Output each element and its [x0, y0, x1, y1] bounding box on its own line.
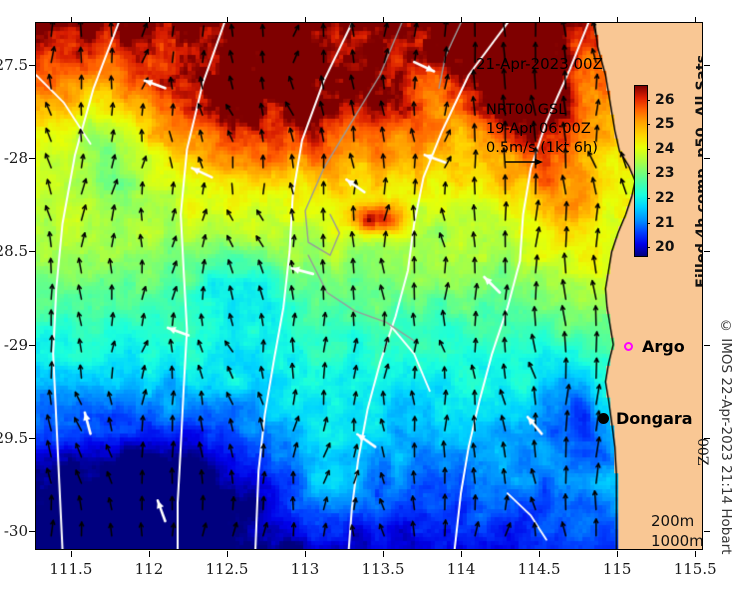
- y-tick: [29, 438, 35, 439]
- map-plot-area[interactable]: 21-Apr-2023 00Z NRT00 GSL 19-Apr 06:00Z …: [35, 22, 703, 550]
- y-tick: [29, 158, 35, 159]
- bathymetry-label-200m: 200m: [651, 511, 703, 531]
- colorbar: 20212223242526 Filled 4h comp, p50, All …: [634, 85, 703, 275]
- colorbar-tick: [648, 100, 650, 101]
- timestamp-label: 21-Apr-2023 00Z: [476, 55, 603, 73]
- x-tick-top: [617, 17, 618, 22]
- y-tick-label: -30: [4, 522, 28, 540]
- x-tick-label: 115: [603, 560, 632, 578]
- y-tick: [29, 531, 35, 532]
- x-tick-top: [695, 17, 696, 22]
- x-tick-top: [539, 17, 540, 22]
- colorbar-tick: [648, 173, 650, 174]
- colorbar-tick: [648, 198, 650, 199]
- y-tick-right: [704, 251, 710, 252]
- credit-text: © IMOS 22-Apr-2023 21:14 Hobart: [718, 318, 734, 554]
- dongara-marker-icon: [598, 413, 609, 424]
- x-tick: [71, 551, 72, 557]
- y-tick-right: [704, 345, 710, 346]
- colorbar-tick-label: 22: [655, 190, 674, 206]
- x-tick: [695, 551, 696, 557]
- y-tick: [29, 251, 35, 252]
- source-info-block: NRT00 GSL 19-Apr 06:00Z 0.5m/s (1kt 6h): [486, 101, 598, 158]
- x-tick-top: [383, 17, 384, 22]
- x-tick-top: [71, 17, 72, 22]
- x-tick-top: [149, 17, 150, 22]
- x-tick-label: 111.5: [49, 560, 92, 578]
- colorbar-title: Filled 4h comp, p50, All Sats: [692, 85, 703, 257]
- colorbar-tick-label: 25: [655, 116, 674, 132]
- colorbar-tick-label: 21: [655, 215, 674, 231]
- x-tick-label: 114: [447, 560, 476, 578]
- source-time-label: 19-Apr 06:00Z: [486, 120, 598, 139]
- y-tick-right: [704, 158, 710, 159]
- x-tick-label: 112.5: [205, 560, 248, 578]
- x-tick-label: 113.5: [362, 560, 405, 578]
- colorbar-tick-label: 20: [655, 239, 674, 255]
- colorbar-tick: [648, 149, 650, 150]
- colorbar-tick: [648, 124, 650, 125]
- y-tick-label: -29: [4, 336, 28, 354]
- right-axis-label: 00Z: [694, 438, 710, 466]
- source-product-label: NRT00 GSL: [486, 101, 598, 120]
- x-tick-label: 112: [135, 560, 164, 578]
- colorbar-tick-label: 26: [655, 92, 674, 108]
- y-tick-label: -28.5: [0, 242, 28, 260]
- legend-argo: Argo: [624, 337, 685, 356]
- bathymetry-legend: 200m 1000m: [651, 511, 703, 550]
- y-tick: [29, 65, 35, 66]
- y-tick-right: [704, 65, 710, 66]
- x-tick: [539, 551, 540, 557]
- x-tick-top: [461, 17, 462, 22]
- figure-root: 21-Apr-2023 00Z NRT00 GSL 19-Apr 06:00Z …: [0, 0, 740, 592]
- x-tick-label: 115.5: [674, 560, 717, 578]
- colorbar-tick-label: 24: [655, 141, 674, 157]
- colorbar-tick: [648, 247, 650, 248]
- x-tick: [227, 551, 228, 557]
- argo-marker-icon: [624, 342, 633, 351]
- x-tick: [149, 551, 150, 557]
- x-tick: [461, 551, 462, 557]
- colorbar-tick-label: 23: [655, 165, 674, 181]
- colorbar-tick: [648, 223, 650, 224]
- y-tick-label: -28: [4, 149, 28, 167]
- argo-label: Argo: [642, 337, 685, 356]
- x-tick: [305, 551, 306, 557]
- y-tick-right: [704, 531, 710, 532]
- map-overlays-contours-vectors: [36, 23, 702, 549]
- bathymetry-label-1000m: 1000m: [651, 531, 703, 550]
- dongara-label: Dongara: [616, 409, 693, 428]
- x-tick: [617, 551, 618, 557]
- x-tick-top: [227, 17, 228, 22]
- reference-vector-arrow-icon: [504, 156, 544, 168]
- colorbar-gradient: [634, 85, 648, 257]
- y-tick-label: -27.5: [0, 56, 28, 74]
- y-tick-label: -29.5: [0, 429, 28, 447]
- x-tick-label: 114.5: [518, 560, 561, 578]
- x-tick-top: [305, 17, 306, 22]
- x-tick: [383, 551, 384, 557]
- map-marker-dongara: Dongara: [598, 409, 693, 428]
- y-tick: [29, 345, 35, 346]
- x-tick-label: 113: [291, 560, 320, 578]
